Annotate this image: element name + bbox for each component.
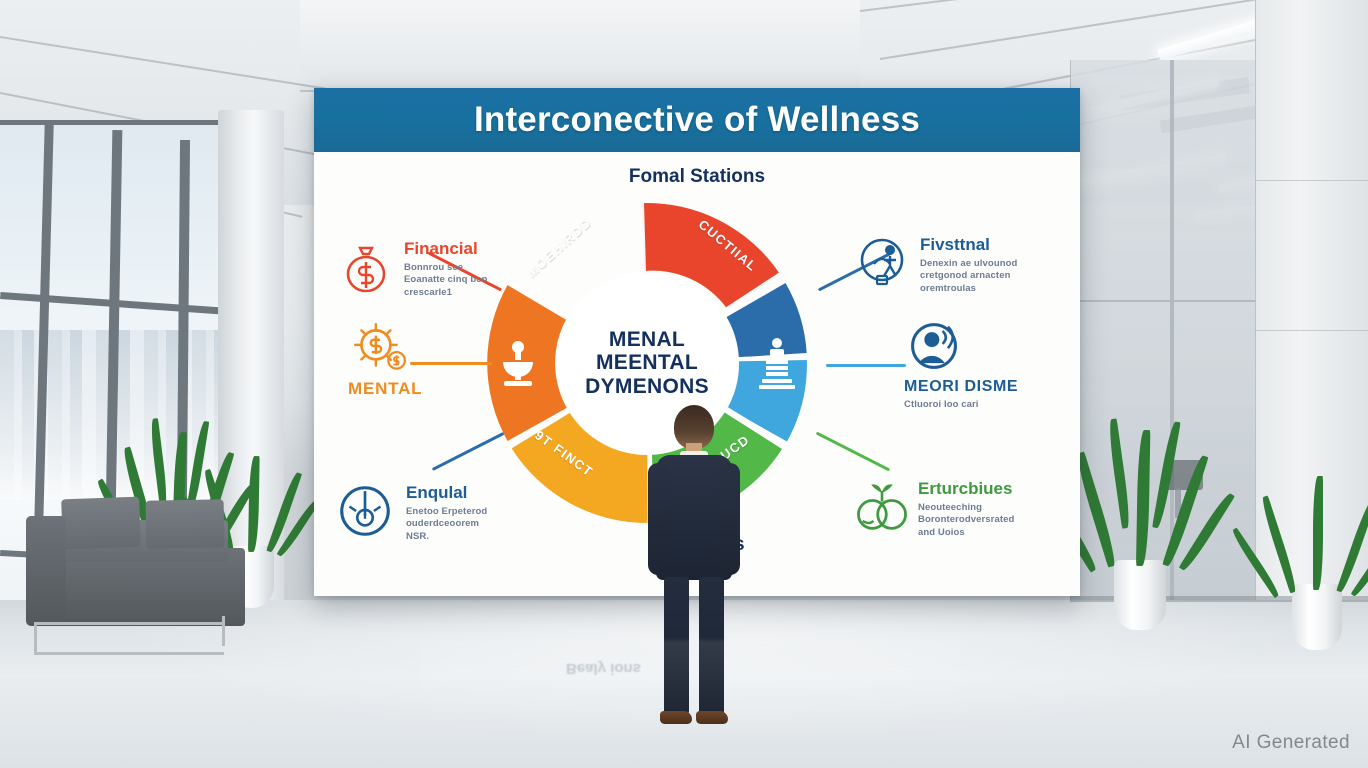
item-title-mental: MENTAL [348, 380, 488, 399]
item-title-nutrition: Erturcbiues [918, 480, 1068, 499]
item-title-physical: Fivsttnal [920, 236, 1060, 255]
poster-floor-reflection [420, 640, 960, 730]
gauge-clock-icon [334, 480, 396, 542]
diagram-top-label: Fomal Stations [314, 166, 1080, 188]
sun-dollar-icon [348, 318, 410, 380]
reflection-text: Bealy ions [566, 660, 641, 677]
poster-title: Interconective of Wellness [474, 100, 920, 140]
book-stack-icon [754, 336, 800, 392]
lightbulb-person-icon [854, 234, 910, 290]
office-lobby-scene: Interconective of Wellness Fomal Station… [0, 0, 1368, 768]
item-title-social: MEORI DISME [904, 378, 1074, 396]
item-title-emotional: Enqulal [406, 484, 546, 503]
connector-nutrition [816, 432, 890, 472]
partition-rail [1072, 300, 1258, 302]
connector-mental [410, 362, 492, 365]
plant-pot [1114, 560, 1166, 630]
item-desc-financial: Bonnrou sce Eoanatte cinq ben crescarle1 [404, 262, 538, 300]
item-desc-nutrition: Neouteeching Boronterodversrated and Uoi… [918, 502, 1068, 540]
ceiling-soffit [300, 0, 860, 92]
item-title-financial: Financial [404, 240, 538, 259]
wall-seam [1255, 330, 1368, 331]
item-desc-physical: Denexin ae ulvounod cretgonod arnacten o… [920, 258, 1060, 296]
connector-social [826, 364, 906, 367]
window-mullion [0, 120, 250, 125]
center-line-1: MENAL [609, 328, 685, 352]
item-desc-emotional: Enetoo Erpeterod ouderdceoorem NSR. [406, 506, 546, 544]
person-left-arm [648, 463, 670, 575]
apple-leaf-icon [852, 478, 912, 538]
ai-watermark: AI Generated [1232, 732, 1350, 754]
person-right-arm [718, 463, 740, 575]
poster-header-band: Interconective of Wellness [314, 88, 1080, 152]
wall-seam [1255, 180, 1368, 181]
center-line-2: MEENTAL [596, 351, 698, 375]
item-desc-social: Ctluoroi Ioo cari [904, 399, 1074, 412]
center-line-3: DYMENONS [585, 375, 709, 399]
trophy-icon [495, 338, 541, 390]
person-signal-icon [904, 316, 964, 376]
plant-pot [1292, 584, 1342, 650]
money-bag-icon [338, 238, 394, 294]
